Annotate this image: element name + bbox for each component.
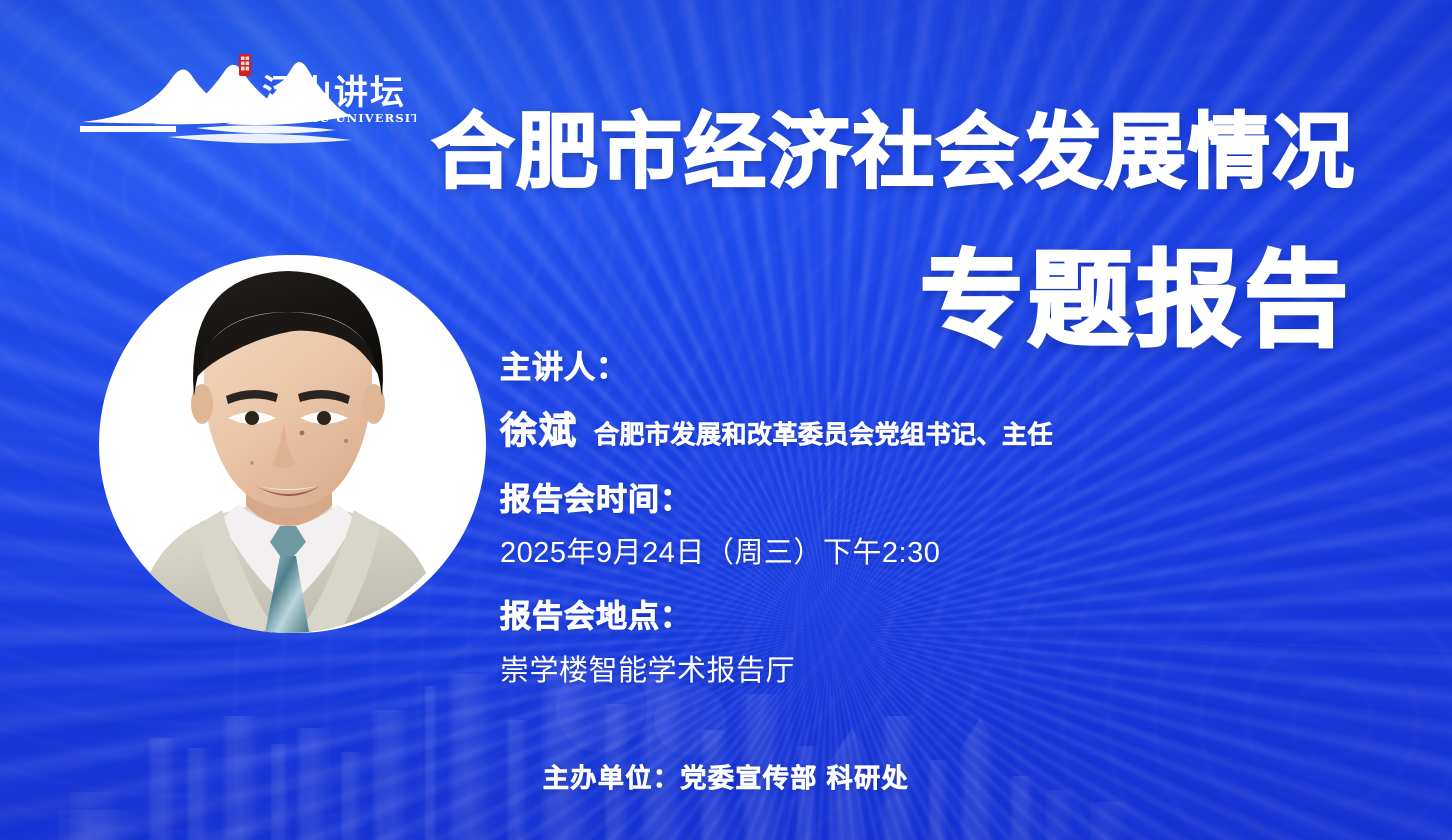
place-label: 报告会地点： bbox=[500, 597, 1400, 637]
event-info-block: 主讲人： 徐斌 合肥市发展和改革委员会党组书记、主任 报告会时间： 2025年9… bbox=[500, 348, 1400, 689]
page-title-line-2: 专题报告 bbox=[920, 248, 1352, 352]
seal-stamp-icon bbox=[239, 54, 251, 76]
place-section: 报告会地点： 崇学楼智能学术报告厅 bbox=[500, 597, 1400, 689]
time-label: 报告会时间： bbox=[500, 480, 1400, 520]
time-section: 报告会时间： 2025年9月24日（周三）下午2:30 bbox=[500, 480, 1400, 572]
logo-cn-text: 汤山讲坛 bbox=[262, 73, 406, 113]
speaker-portrait bbox=[98, 228, 478, 638]
speaker-row: 徐斌 合肥市发展和改革委员会党组书记、主任 bbox=[500, 400, 1400, 454]
place-value: 崇学楼智能学术报告厅 bbox=[500, 647, 1400, 689]
logo-en-text: CHAOHU UNIVERSITY bbox=[264, 111, 416, 125]
page-title-line-1: 合肥市经济社会发展情况 bbox=[432, 112, 1356, 194]
speaker-position: 合肥市发展和改革委员会党组书记、主任 bbox=[594, 415, 1053, 451]
speaker-portrait-icon bbox=[98, 228, 478, 638]
brand-logo: 汤山讲坛 CHAOHU UNIVERSITY bbox=[76, 52, 416, 144]
poster-canvas: 汤山讲坛 CHAOHU UNIVERSITY bbox=[0, 0, 1452, 840]
time-value: 2025年9月24日（周三）下午2:30 bbox=[500, 529, 1400, 571]
speaker-label: 主讲人： bbox=[500, 348, 1400, 388]
organizer-footer: 主办单位：党委宣传部 科研处 bbox=[0, 758, 1452, 795]
speaker-name: 徐斌 bbox=[500, 400, 578, 454]
